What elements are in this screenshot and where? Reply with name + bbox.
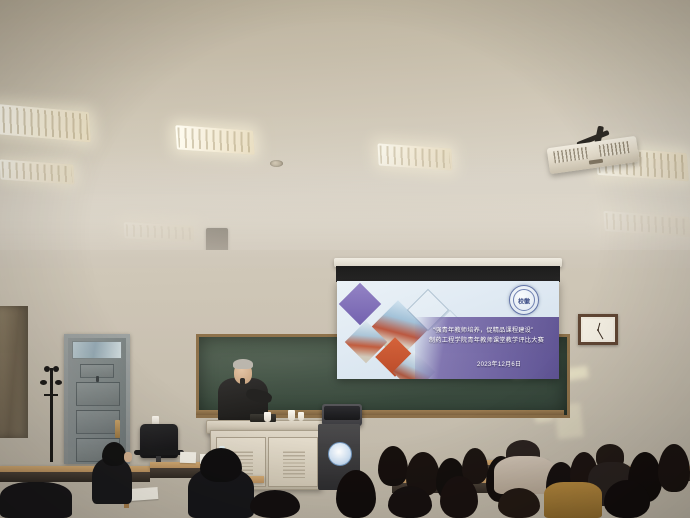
seal-text: 校徽 xyxy=(518,296,530,305)
presenter-hair xyxy=(233,359,253,369)
wall-clock xyxy=(578,314,618,345)
window-curtain xyxy=(0,306,28,438)
paper-cup-3 xyxy=(298,412,304,421)
paper-cup-1 xyxy=(264,412,271,422)
judge-face xyxy=(124,452,132,462)
judge-seated-left-2-head xyxy=(200,448,242,482)
clock-minute-hand xyxy=(598,330,604,339)
student-front-7 xyxy=(250,490,300,518)
student-front-8 xyxy=(0,482,72,518)
student-front-2 xyxy=(388,486,432,518)
slide-subtitle: 制药工程学院青年教师课堂教学评比大赛 xyxy=(429,335,544,344)
university-seal-icon: 校徽 xyxy=(509,285,539,315)
paper-cup-2 xyxy=(288,410,295,421)
projected-slide: “强青年教师培养，促精品课程建设” 制药工程学院青年教师课堂教学评比大赛 202… xyxy=(337,281,559,379)
door-peephole-icon xyxy=(96,376,99,382)
podium-display-monitor[interactable] xyxy=(322,404,362,426)
notebook-paper xyxy=(130,487,159,501)
screen-black-leader xyxy=(336,266,560,282)
slide-diamond-purple xyxy=(339,283,381,325)
student-front-4 xyxy=(498,488,540,518)
presenter-microphone-icon xyxy=(240,378,245,385)
ceiling-shadow-gradient xyxy=(0,150,690,268)
student-front-5-coat xyxy=(544,482,602,518)
student-front-6 xyxy=(604,480,650,518)
student-front-3 xyxy=(440,476,478,518)
slide-headline: “强青年教师培养，促精品课程建设” xyxy=(433,325,533,334)
door-handle[interactable] xyxy=(115,420,120,438)
lecture-hall-photo: “强青年教师培养，促精品课程建设” 制药工程学院青年教师课堂教学评比大赛 202… xyxy=(0,0,690,518)
judge-seated-left-1-head xyxy=(102,442,126,466)
evaluation-papers-2 xyxy=(180,452,196,464)
slide-date: 2023年12月6日 xyxy=(477,359,521,368)
student-1 xyxy=(378,446,408,486)
lectern-equipment xyxy=(250,414,276,422)
chair-armrest xyxy=(134,450,184,455)
coat-rack xyxy=(50,368,53,462)
door-transom-window xyxy=(72,341,122,359)
podium-university-emblem xyxy=(328,442,352,466)
